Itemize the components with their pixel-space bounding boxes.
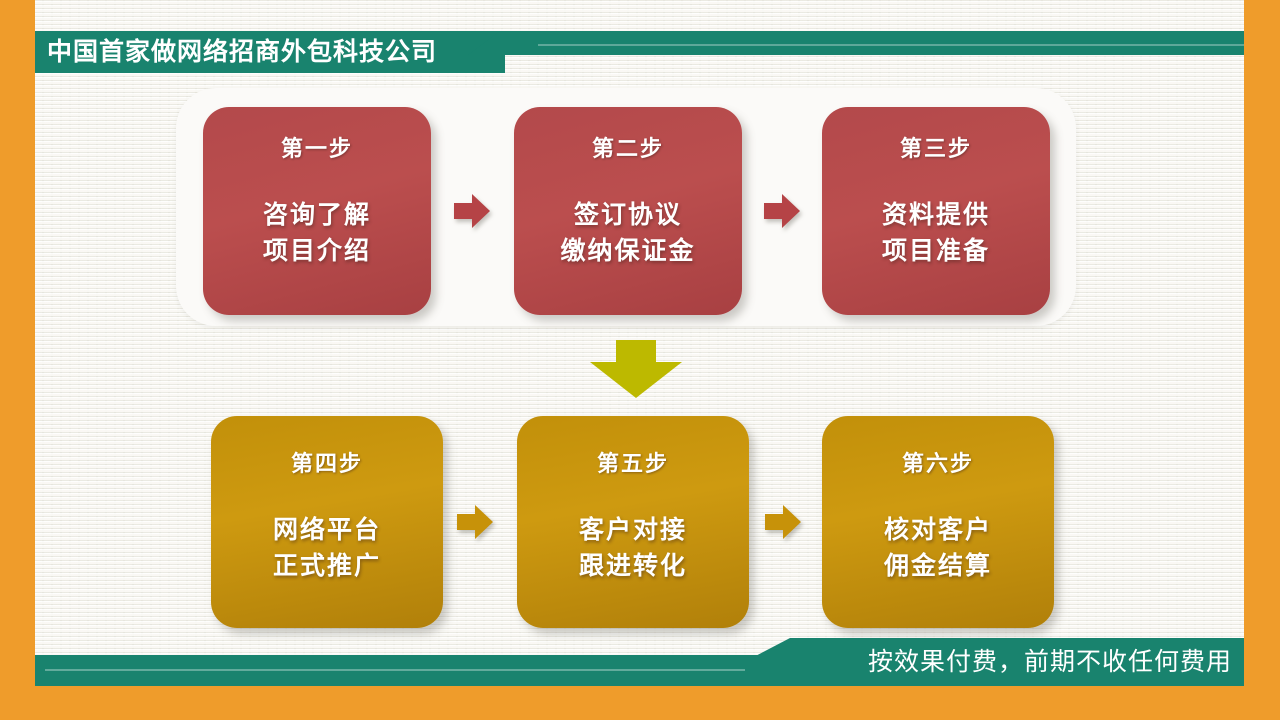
step-4-line-1: 网络平台 bbox=[273, 512, 381, 548]
step-1-title: 第一步 bbox=[281, 131, 353, 163]
step-card-3[interactable]: 第三步 资料提供 项目准备 bbox=[822, 107, 1050, 315]
step-6-title: 第六步 bbox=[902, 446, 974, 478]
slide-root: 中国首家做网络招商外包科技公司 第一步 咨询了解 项目介绍 第二步 签订协议 缴… bbox=[0, 0, 1280, 720]
arrow-shaft bbox=[457, 514, 477, 530]
step-card-6[interactable]: 第六步 核对客户 佣金结算 bbox=[822, 416, 1054, 628]
step-6-line-1: 核对客户 bbox=[884, 512, 992, 548]
arrow-head bbox=[783, 505, 801, 539]
step-card-5[interactable]: 第五步 客户对接 跟进转化 bbox=[517, 416, 749, 628]
step-2-body: 签订协议 缴纳保证金 bbox=[560, 197, 695, 270]
step-3-title: 第三步 bbox=[900, 131, 972, 163]
step-1-line-2: 项目介绍 bbox=[263, 233, 371, 269]
step-2-line-1: 签订协议 bbox=[560, 197, 695, 233]
step-3-body: 资料提供 项目准备 bbox=[882, 197, 990, 270]
step-4-line-2: 正式推广 bbox=[273, 548, 381, 584]
step-1-line-1: 咨询了解 bbox=[263, 197, 371, 233]
header-divider-line bbox=[538, 44, 1244, 46]
footer-tagline: 按效果付费，前期不收任何费用 bbox=[868, 644, 1232, 680]
step-card-4[interactable]: 第四步 网络平台 正式推广 bbox=[211, 416, 443, 628]
step-4-title: 第四步 bbox=[291, 446, 363, 478]
step-5-title: 第五步 bbox=[597, 446, 669, 478]
arrow-right-icon bbox=[457, 505, 493, 539]
step-5-line-1: 客户对接 bbox=[579, 512, 687, 548]
page-title: 中国首家做网络招商外包科技公司 bbox=[47, 34, 437, 70]
step-5-line-2: 跟进转化 bbox=[579, 548, 687, 584]
arrow-down-shaft bbox=[616, 340, 656, 364]
step-1-body: 咨询了解 项目介绍 bbox=[263, 197, 371, 270]
arrow-down-icon bbox=[590, 340, 682, 398]
step-2-line-2: 缴纳保证金 bbox=[560, 233, 695, 269]
step-2-title: 第二步 bbox=[592, 131, 664, 163]
arrow-down-head bbox=[590, 362, 682, 398]
step-card-2[interactable]: 第二步 签订协议 缴纳保证金 bbox=[514, 107, 742, 315]
arrow-shaft bbox=[765, 514, 785, 530]
step-6-line-2: 佣金结算 bbox=[884, 548, 992, 584]
arrow-right-icon bbox=[765, 505, 801, 539]
step-card-1[interactable]: 第一步 咨询了解 项目介绍 bbox=[203, 107, 431, 315]
arrow-right-icon bbox=[454, 194, 490, 228]
arrow-right-icon bbox=[764, 194, 800, 228]
footer-divider-line bbox=[45, 669, 745, 671]
step-4-body: 网络平台 正式推广 bbox=[273, 512, 381, 585]
arrow-head bbox=[472, 194, 490, 228]
arrow-shaft bbox=[764, 203, 784, 219]
step-3-line-2: 项目准备 bbox=[882, 233, 990, 269]
step-3-line-1: 资料提供 bbox=[882, 197, 990, 233]
step-5-body: 客户对接 跟进转化 bbox=[579, 512, 687, 585]
step-6-body: 核对客户 佣金结算 bbox=[884, 512, 992, 585]
arrow-head bbox=[475, 505, 493, 539]
arrow-head bbox=[782, 194, 800, 228]
arrow-shaft bbox=[454, 203, 474, 219]
